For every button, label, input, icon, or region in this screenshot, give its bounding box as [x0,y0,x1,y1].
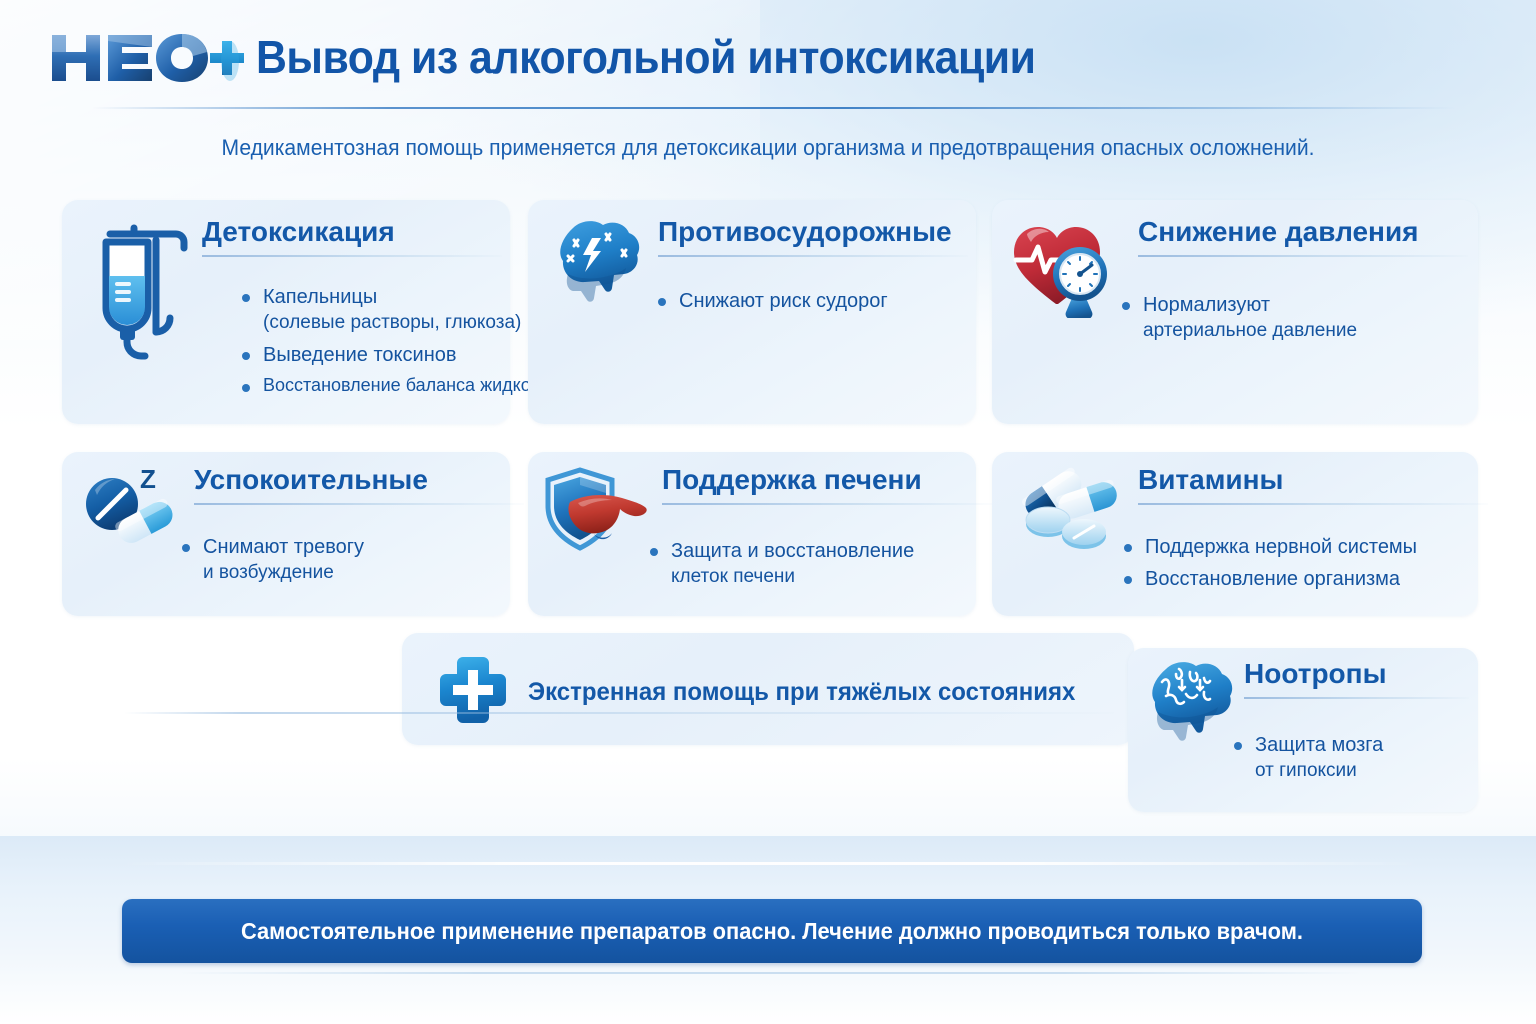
bullet-subtext: (солевые растворы, глюкоза) [263,311,570,336]
bullet-list: Нормализуют артериальное давление [1120,292,1460,350]
bullet-text: Защита мозга [1255,734,1383,756]
card-liver[interactable]: Поддержка печени Защита и восстановление… [528,452,976,616]
title-divider [194,503,524,505]
emergency-content: Экстренная помощь при тяжёлых состояниях [436,653,1098,732]
bullet-list: Защита мозга от гипоксии [1232,732,1472,790]
bullet-list: Защита и восстановление клеток печени [648,538,978,596]
iv-drip-icon [82,218,192,383]
brain-bolt-icon [546,218,646,315]
medical-cross-icon [436,653,510,732]
title-divider [1138,503,1488,505]
card-pressure[interactable]: Снижение давления Нормализуют артериальн… [992,200,1478,424]
card-sedatives[interactable]: Z Успокоительные Снимают тревогу [62,452,510,616]
warning-text: Самостоятельное применение препаратов оп… [241,918,1303,945]
infographic-canvas: Вывод из алкогольной интоксикации Медика… [0,0,1536,1024]
list-item: Восстановление организма [1122,566,1472,592]
card-anticonvulsant[interactable]: Противосудорожные Снижают риск судорог [528,200,976,424]
shield-liver-icon [544,466,652,563]
page-title: Вывод из алкогольной интоксикации [256,30,1035,84]
footer-highlight-line [120,862,1420,865]
bullet-text: Снимают тревогу [203,536,364,558]
bullet-line2: клеток печени [671,565,978,590]
logo [48,30,248,86]
card-detox[interactable]: Детоксикация Капельницы (солевые раствор… [62,200,510,424]
bullet-list: Снижают риск судорог [656,288,966,320]
list-item: Защита мозга от гипоксии [1232,732,1472,784]
list-item: Выведение токсинов [240,342,570,368]
list-item: Защита и восстановление клеток печени [648,538,978,590]
list-item: Снимают тревогу и возбуждение [180,534,510,586]
emergency-divider [124,712,1114,714]
card-vitamins[interactable]: Витамины Поддержка нервной системы Восст… [992,452,1478,616]
card-title: Поддержка печени [662,464,922,495]
bullet-list: Капельницы (солевые растворы, глюкоза) В… [240,284,570,403]
svg-text:Z: Z [140,466,156,494]
brain-icon [1142,660,1234,751]
card-title: Снижение давления [1138,216,1419,247]
title-divider [1244,697,1469,699]
subtitle: Медикаментозная помощь применяется для д… [31,135,1506,161]
emergency-banner[interactable]: Экстренная помощь при тяжёлых состояниях [402,633,1134,745]
emergency-label: Экстренная помощь при тяжёлых состояниях [528,678,1075,707]
card-nootropics[interactable]: Ноотропы Защита мозга от гипоксии [1128,648,1478,812]
card-title: Противосудорожные [658,216,952,247]
pills-capsules-icon [1008,466,1126,563]
title-divider [1138,255,1468,257]
header: Вывод из алкогольной интоксикации [0,0,1536,112]
card-title: Витамины [1138,464,1283,495]
warning-banner[interactable]: Самостоятельное применение препаратов оп… [122,899,1422,963]
bullet-line2: от гипоксии [1255,759,1472,784]
list-item: Капельницы (солевые растворы, глюкоза) [240,284,570,336]
card-title: Детоксикация [202,216,395,247]
bullet-text: Защита и восстановление [671,540,914,562]
card-title: Успокоительные [194,464,428,495]
footer-bottom-line [180,972,1360,974]
bullet-text: Нормализуют [1143,294,1270,316]
bullet-list: Поддержка нервной системы Восстановление… [1122,534,1472,598]
bullet-list: Снимают тревогу и возбуждение [180,534,510,592]
list-item: Поддержка нервной системы [1122,534,1472,560]
bullet-line2: артериальное давление [1143,319,1460,344]
bullet-line2: и возбуждение [203,561,510,586]
header-divider [92,107,1456,109]
list-item: Снижают риск судорог [656,288,966,314]
neo-plus-logo-icon [48,29,248,87]
pill-sleep-icon: Z [78,466,188,555]
title-divider [658,255,968,257]
list-item: Восстановление баланса жидкости [240,374,570,397]
title-divider [202,255,502,257]
list-item: Нормализуют артериальное давление [1120,292,1460,344]
card-title: Ноотропы [1244,658,1386,689]
title-divider [662,503,992,505]
bullet-text: Капельницы [263,286,377,308]
heart-gauge-icon [1010,218,1120,323]
